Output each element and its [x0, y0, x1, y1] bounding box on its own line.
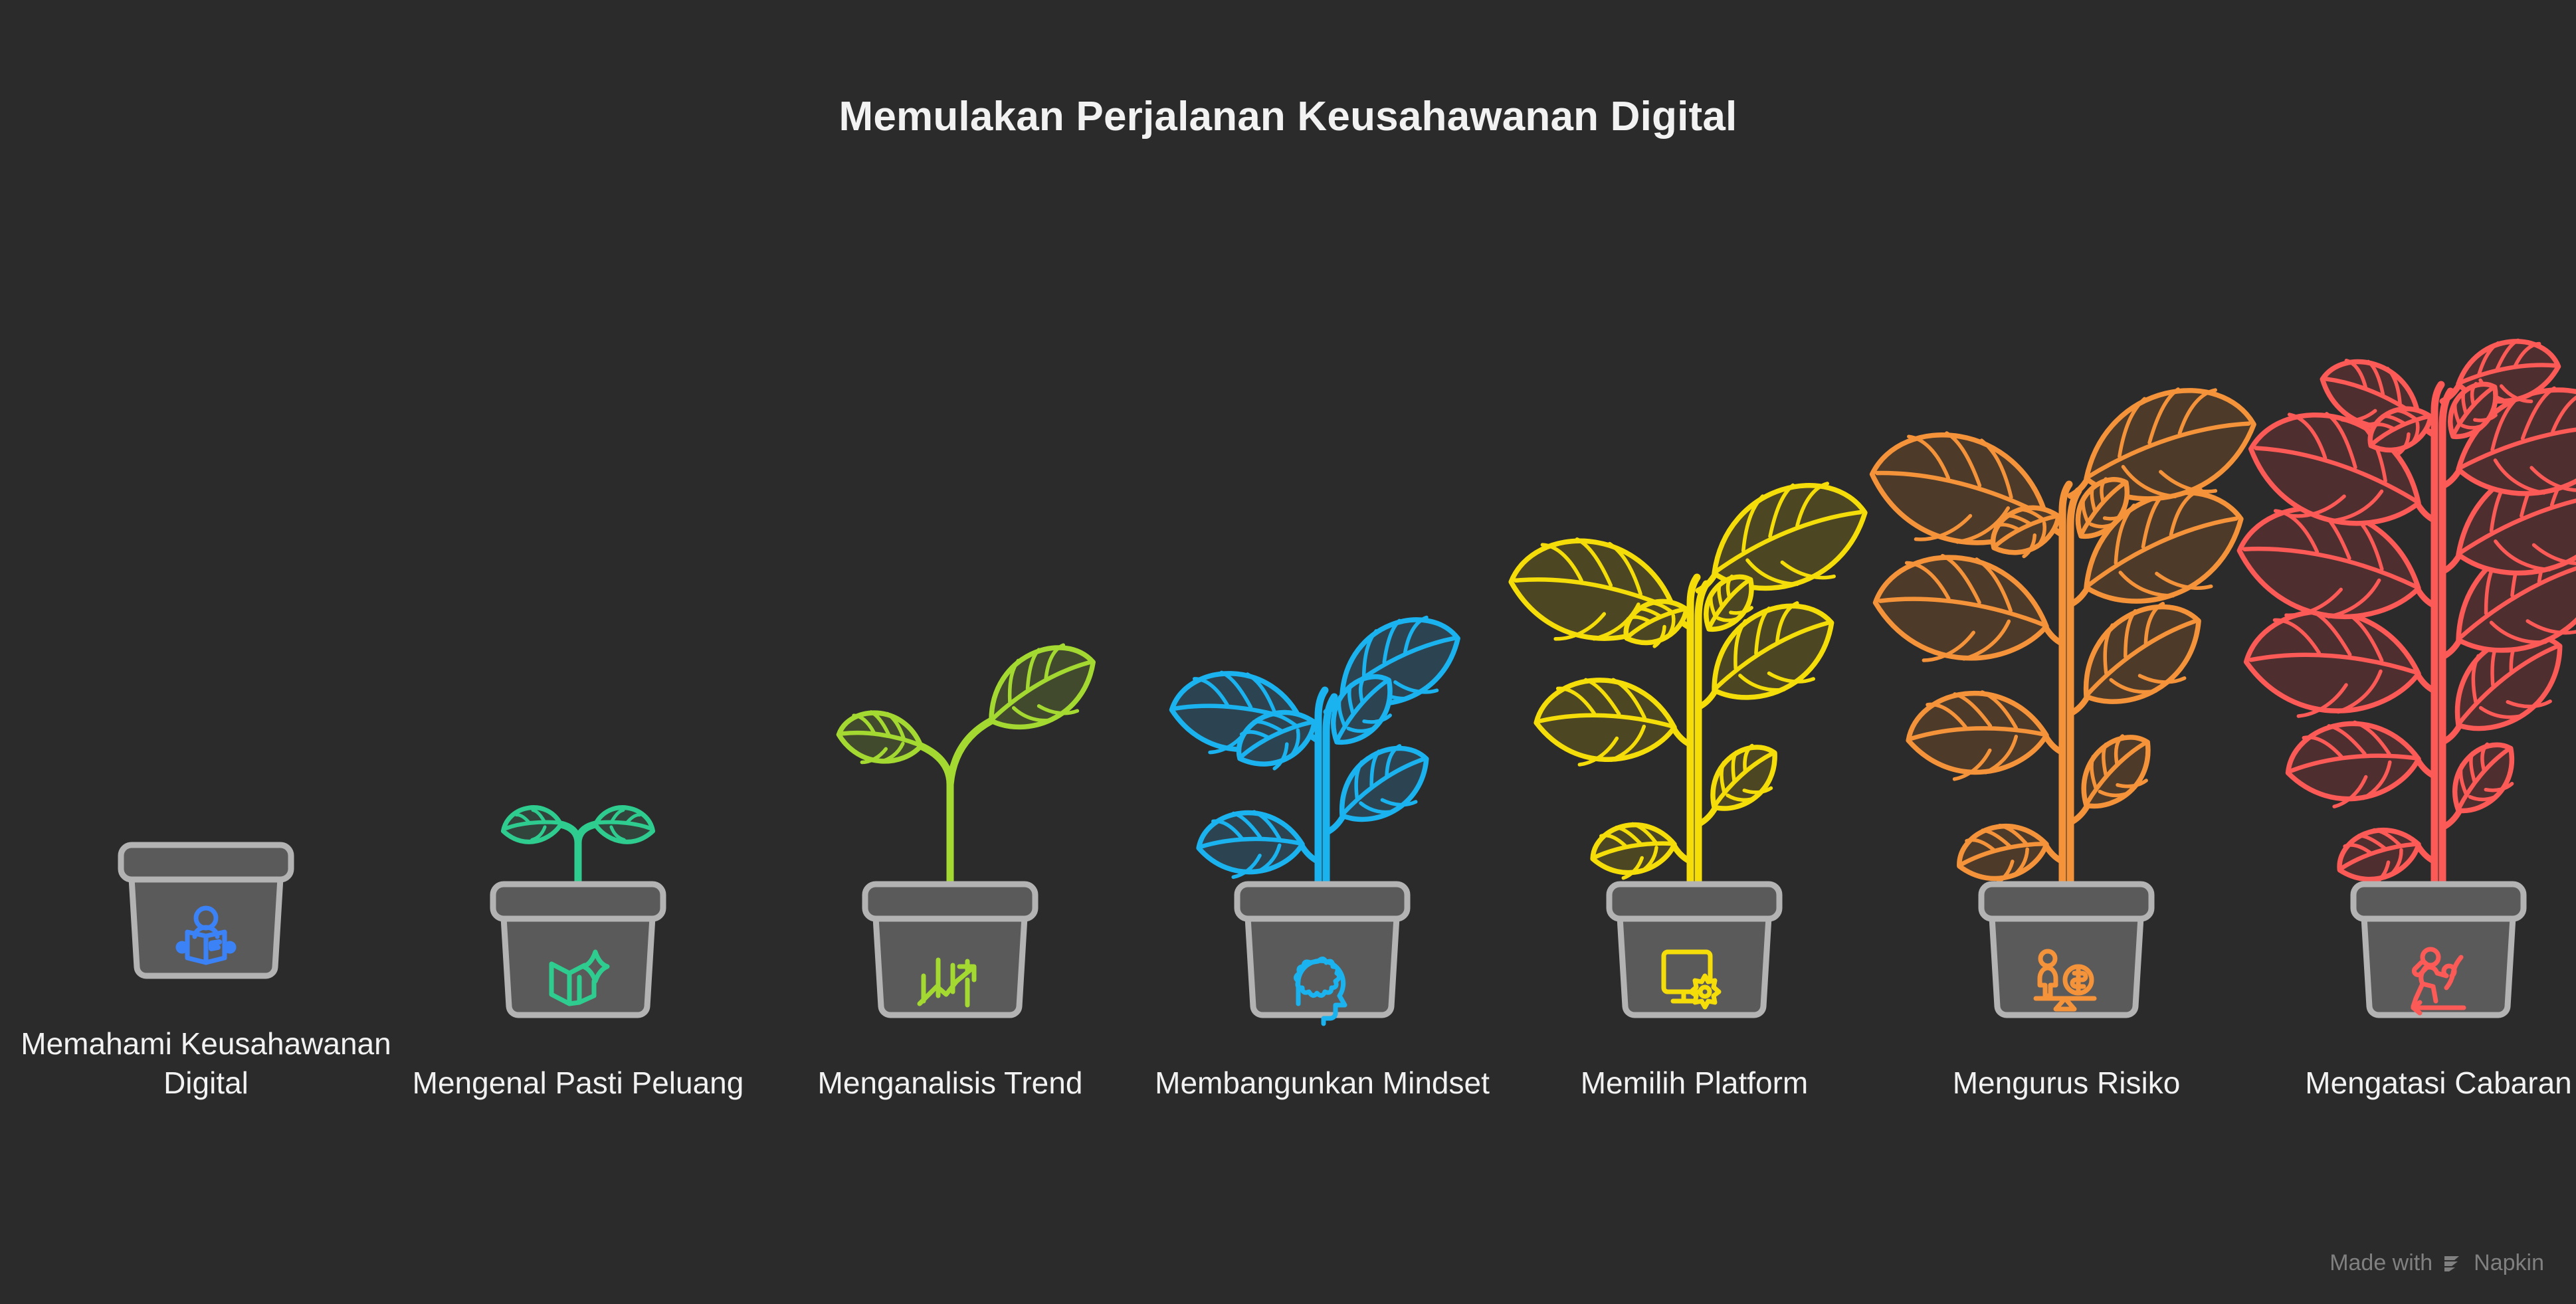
growth-stages-row: Memahami Keusahawanan Digital Mengenal P…	[0, 159, 2576, 1103]
pot-1	[106, 840, 306, 990]
plant-pot	[850, 879, 1050, 1029]
leaf	[593, 800, 657, 850]
plant-pot	[1223, 879, 1422, 1029]
watermark-prefix: Made with	[2329, 1250, 2432, 1276]
plant-3	[764, 698, 1136, 884]
leaf	[2278, 699, 2425, 822]
growth-stage-7: Mengatasi Cabaran	[2252, 159, 2576, 1103]
plant	[1880, 406, 2252, 884]
napkin-watermark: Made with Napkin	[2329, 1250, 2544, 1276]
stage-label-3: Menganalisis Trend	[764, 1064, 1136, 1103]
leaf	[1192, 796, 1306, 888]
stage-label-4: Membangunkan Mindset	[1136, 1064, 1508, 1103]
page-title: Memulakan Perjalanan Keusahawanan Digita…	[0, 93, 2576, 140]
pot-6	[1967, 879, 2166, 1029]
growth-stage-2: Mengenal Pasti Peluang	[392, 159, 764, 1103]
leaf	[2066, 593, 2215, 713]
leaf	[1327, 738, 1439, 828]
plant	[392, 804, 764, 884]
growth-stage-1: Memahami Keusahawanan Digital	[20, 159, 392, 1103]
plant	[1508, 499, 1880, 884]
leaf	[1697, 737, 1789, 816]
plant-pot	[106, 840, 306, 990]
leaf	[837, 706, 923, 768]
leaf	[1870, 543, 2050, 671]
plant-pot	[1967, 879, 2166, 1029]
growth-stage-4: Membangunkan Mindset	[1136, 159, 1508, 1103]
pot-2	[478, 879, 678, 1029]
plant-pot	[1595, 879, 1794, 1029]
plant-2	[392, 804, 764, 884]
stage-label-7: Mengatasi Cabaran	[2252, 1064, 2576, 1103]
stage-label-6: Mengurus Risiko	[1880, 1064, 2252, 1103]
plant	[1136, 599, 1508, 884]
infographic-canvas: Memulakan Perjalanan Keusahawanan Digita…	[0, 0, 2576, 1304]
growth-stage-6: Mengurus Risiko	[1880, 159, 2252, 1103]
pot-3	[850, 879, 1050, 1029]
growth-stage-5: Memilih Platform	[1508, 159, 1880, 1103]
plant-7	[2252, 300, 2576, 884]
leaf	[2436, 734, 2529, 819]
leaf	[1899, 671, 2052, 793]
watermark-brand: Napkin	[2474, 1250, 2544, 1276]
plant	[2252, 300, 2576, 884]
napkin-logo-icon	[2442, 1252, 2464, 1275]
plant	[764, 698, 1136, 884]
stage-label-2: Mengenal Pasti Peluang	[392, 1064, 764, 1103]
leaf	[1529, 662, 1678, 777]
plant-pot	[478, 879, 678, 1029]
leaf	[2065, 726, 2165, 815]
pot-5	[1595, 879, 1794, 1029]
plant-4	[1136, 599, 1508, 884]
growth-stage-3: Menganalisis Trend	[764, 159, 1136, 1103]
pot-4	[1223, 879, 1422, 1029]
plant-pot	[2339, 879, 2538, 1029]
pot-7	[2339, 879, 2538, 1029]
leaf	[1585, 808, 1679, 889]
plant-6	[1880, 406, 2252, 884]
leaf	[977, 638, 1104, 735]
plant-5	[1508, 499, 1880, 884]
stage-label-5: Memilih Platform	[1508, 1064, 1880, 1103]
stage-label-1: Memahami Keusahawanan Digital	[20, 1024, 392, 1103]
leaf	[499, 800, 563, 850]
